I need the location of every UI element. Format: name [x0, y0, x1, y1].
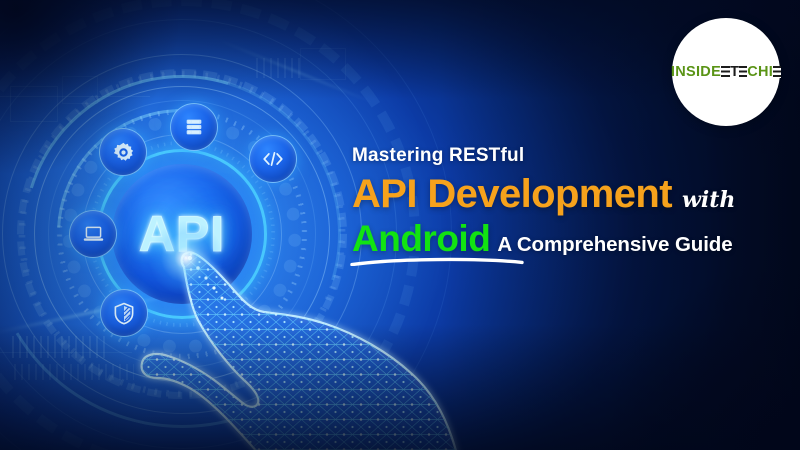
headline-platform-row: Android A Comprehensive Guide	[352, 220, 792, 257]
headline-kicker: Mastering RESTful	[352, 146, 792, 166]
brand-logo-text: INSIDETCHI	[671, 64, 781, 80]
logo-bars-icon	[773, 66, 781, 78]
headline-subtitle: A Comprehensive Guide	[497, 235, 732, 256]
logo-text-t: T	[730, 64, 739, 80]
logo-text-inside: INSIDE	[671, 64, 721, 80]
headline-connector: with	[682, 189, 735, 211]
brand-logo-badge[interactable]: INSIDETCHI	[672, 18, 780, 126]
platform-wrapper: Android	[352, 220, 490, 257]
headline-title-row: API Development with	[352, 174, 792, 214]
headline-title: API Development	[352, 174, 672, 214]
banner-canvas: API	[0, 0, 800, 450]
headline-platform: Android	[352, 218, 490, 259]
logo-bars-icon	[739, 66, 747, 78]
logo-bars-icon	[721, 66, 730, 78]
headline-block: Mastering RESTful API Development with A…	[352, 146, 792, 257]
logo-text-chi: CHI	[747, 64, 773, 80]
platform-underline-icon	[350, 257, 524, 266]
